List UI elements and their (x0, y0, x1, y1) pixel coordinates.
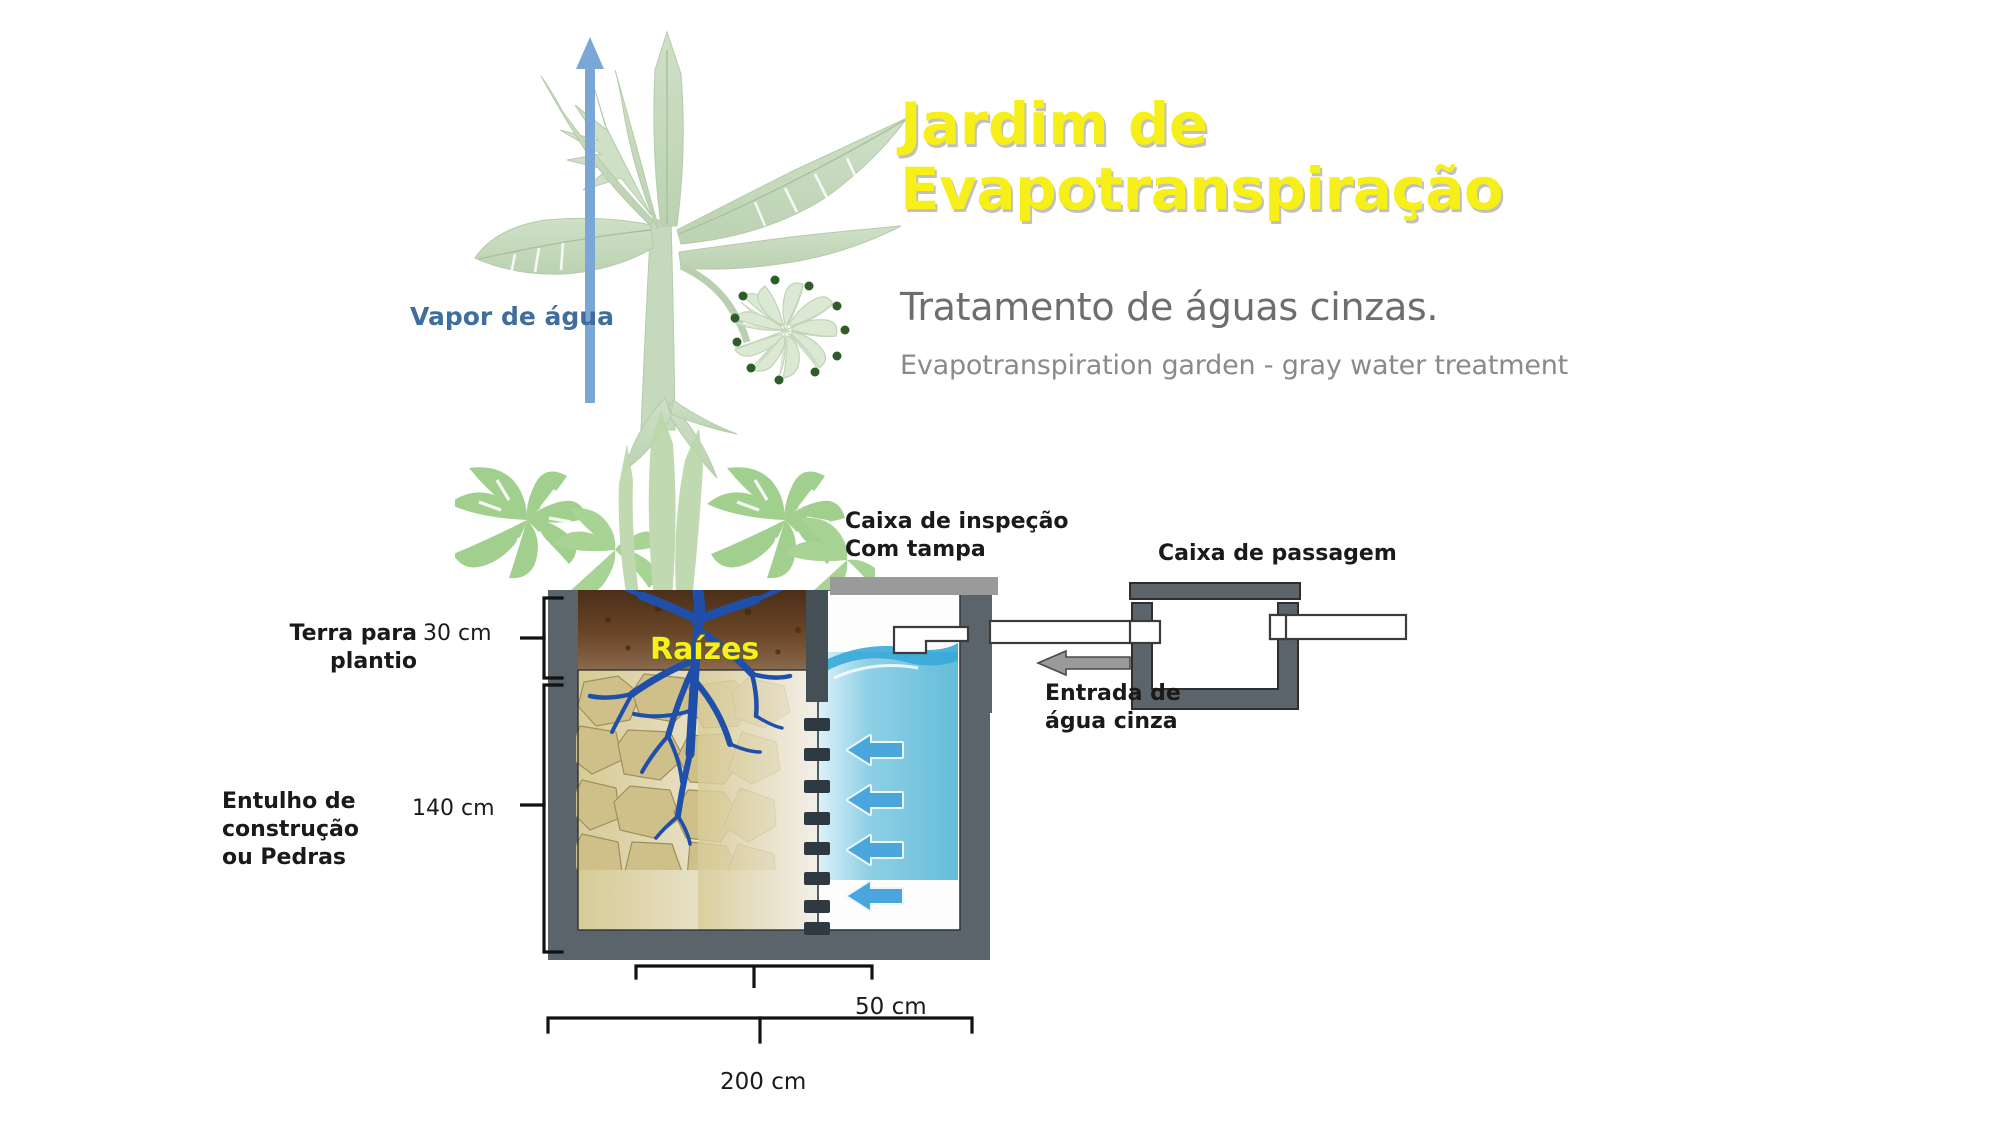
label-total-width: 200 cm (720, 1068, 806, 1097)
label-inspection-box-line2: Com tampa (845, 536, 1069, 564)
label-greywater-inlet-line1: Entrada de (1045, 680, 1181, 708)
label-planting-soil-depth: 30 cm (423, 620, 492, 648)
subtitle-en: Evapotranspiration garden - gray water t… (900, 350, 1568, 381)
bracket-30cm (544, 598, 562, 678)
label-rubble-line3: ou Pedras (222, 844, 422, 872)
label-rubble: Entulho de construção ou Pedras (222, 788, 422, 872)
subtitle-pt: Tratamento de águas cinzas. (900, 285, 1438, 329)
water-vapor-arrow-icon (575, 35, 605, 405)
label-rubble-line1: Entulho de (222, 788, 422, 816)
label-chamber-width: 50 cm (855, 993, 927, 1022)
title-line-1: Jardim de (900, 92, 1600, 157)
label-planting-soil: Terra para plantio (222, 620, 417, 676)
label-inspection-box-line1: Caixa de inspeção (845, 508, 1069, 536)
label-inspection-box: Caixa de inspeção Com tampa (845, 508, 1069, 564)
page-title: Jardim de Evapotranspiração (900, 92, 1600, 222)
label-greywater-inlet-line2: água cinza (1045, 708, 1181, 736)
passage-box-inlet-stub (1130, 621, 1160, 643)
vapor-label: Vapor de água (410, 302, 614, 331)
diagram-canvas: Vapor de água Jardim de Evapotranspiraçã… (0, 0, 2000, 1125)
title-line-2: Evapotranspiração (900, 157, 1600, 222)
label-rubble-line2: construção (222, 816, 422, 844)
dimension-brackets (520, 580, 1080, 1100)
outlet-pipe (1270, 615, 1406, 639)
bracket-140cm (544, 685, 562, 952)
label-rubble-depth: 140 cm (412, 795, 495, 823)
label-passage-box: Caixa de passagem (1158, 540, 1397, 568)
label-greywater-inlet: Entrada de água cinza (1045, 680, 1181, 736)
